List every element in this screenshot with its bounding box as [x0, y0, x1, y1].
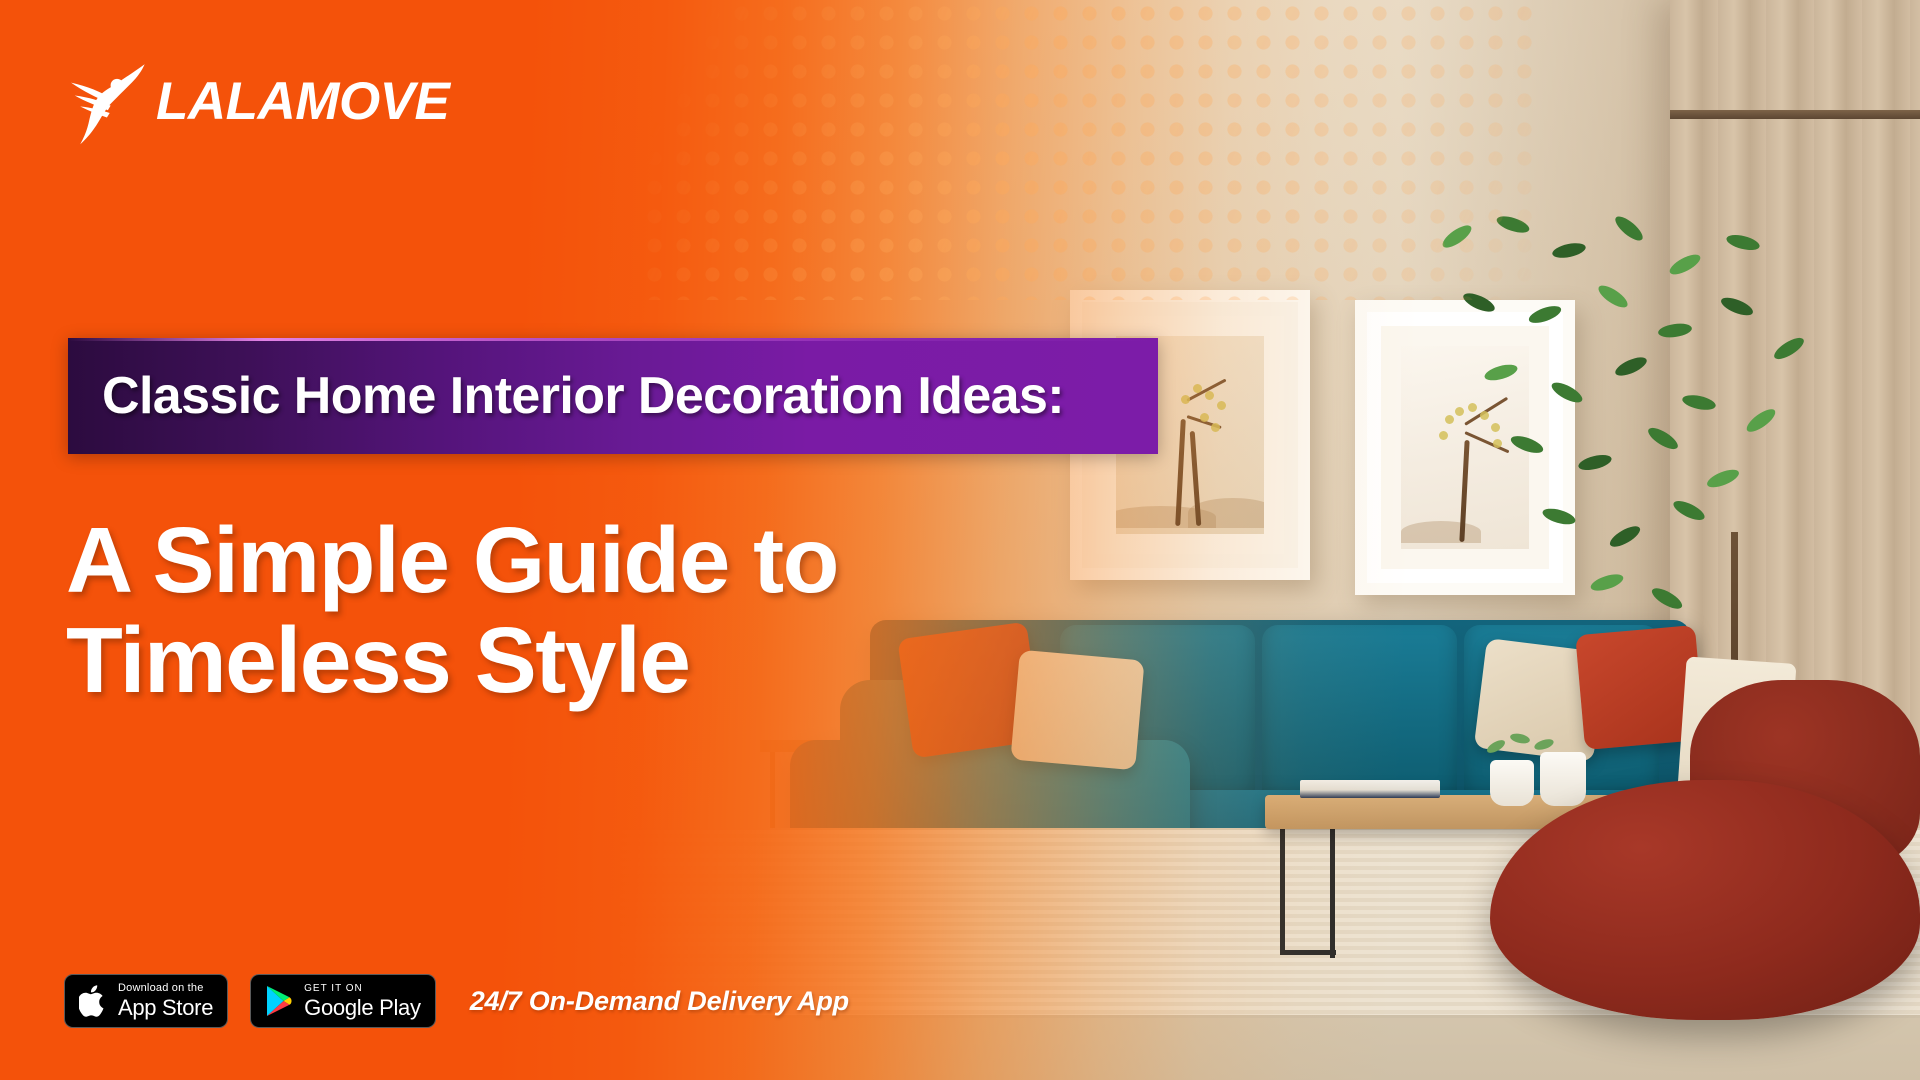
headline: A Simple Guide to Timeless Style: [66, 510, 1046, 711]
hummingbird-icon: [60, 55, 152, 147]
title-banner-text: Classic Home Interior Decoration Ideas:: [102, 366, 1064, 426]
promo-banner: LALAMOVE Classic Home Interior Decoratio…: [0, 0, 1920, 1080]
google-play-big-label: Google Play: [304, 997, 421, 1019]
app-store-big-label: App Store: [118, 997, 213, 1019]
app-store-small-label: Download on the: [118, 983, 213, 994]
google-play-badge[interactable]: GET IT ON Google Play: [250, 974, 436, 1028]
google-play-small-label: GET IT ON: [304, 984, 421, 994]
footer-tagline: 24/7 On-Demand Delivery App: [470, 986, 849, 1017]
headline-line-2: Timeless Style: [66, 610, 1046, 710]
app-store-badge[interactable]: Download on the App Store: [64, 974, 228, 1028]
google-play-icon: [265, 984, 295, 1018]
headline-line-1: A Simple Guide to: [66, 510, 1046, 610]
apple-icon: [79, 983, 109, 1019]
title-banner: Classic Home Interior Decoration Ideas:: [68, 338, 1158, 454]
lalamove-logo[interactable]: LALAMOVE: [60, 55, 449, 147]
footer: Download on the App Store GET IT ON Goog…: [64, 974, 849, 1028]
brand-wordmark: LALAMOVE: [156, 75, 449, 128]
